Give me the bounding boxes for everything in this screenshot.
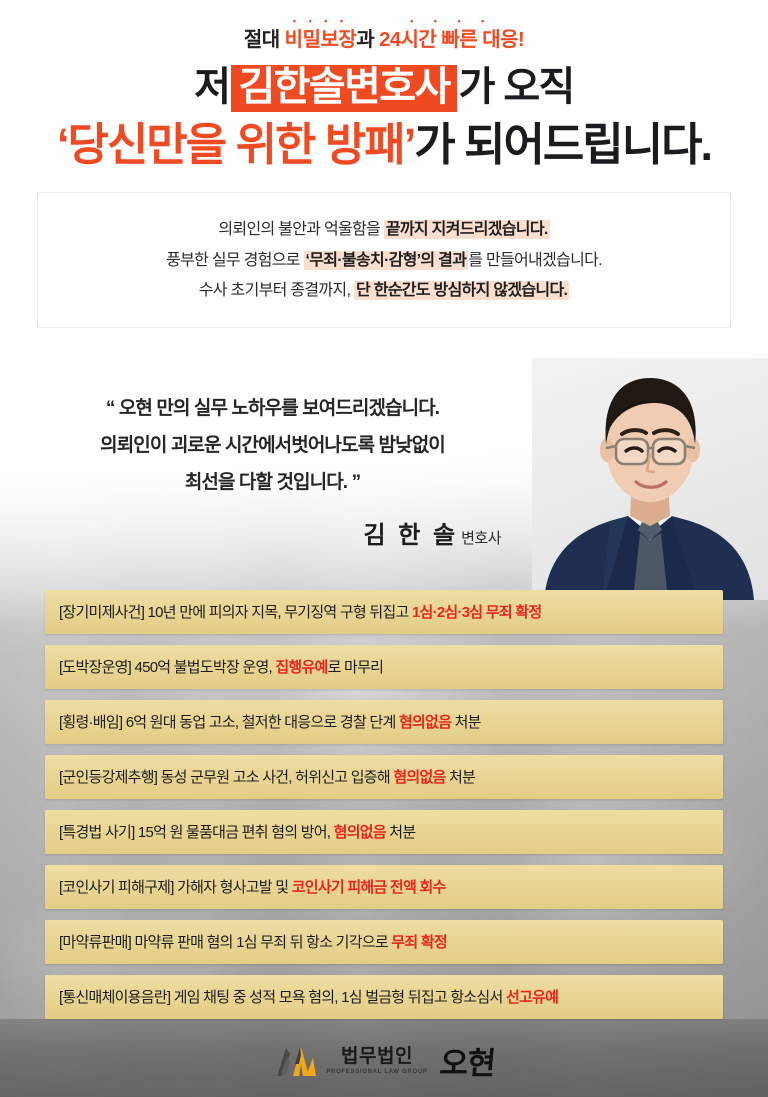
case-result-text-8: [통신매체이용음란] 게임 채팅 중 성적 모욕 혐의, 1심 벌금형 뒤집고 … bbox=[59, 990, 558, 1005]
quote-block: “ 오현 만의 실무 노하우를 보여드리겠습니다. 의뢰인이 괴로운 시간에서벗… bbox=[0, 390, 545, 550]
portrait-illustration bbox=[532, 358, 768, 600]
quote-text-3: 최선을 다할 것입니다. bbox=[185, 472, 347, 493]
case-body-7: 마약류 판매 혐의 1심 무죄 뒤 항소 기각으로 bbox=[131, 934, 391, 951]
promise-panel: 의뢰인의 불안과 억울함을 끝까지 지켜드리겠습니다. 풍부한 실무 경험으로 … bbox=[37, 192, 731, 327]
case-tag-4: [군인등강제추행] bbox=[59, 769, 157, 786]
case-result-row-4[interactable]: [군인등강제추행] 동성 군무원 고소 사건, 허위신고 입증해 혐의없음 처분 bbox=[45, 755, 723, 799]
case-tag-1: [장기미제사건] bbox=[59, 604, 144, 621]
kicker-part-plain-2: 과 bbox=[356, 29, 379, 51]
headline-block: 절대 비밀보장과 24시간 빠른 대응! 저김한솔변호사가 오직 ‘당신만을 위… bbox=[0, 0, 768, 172]
case-result-row-6[interactable]: [코인사기 피해구제] 가해자 형사고발 및 코인사기 피해금 전액 회수 bbox=[45, 865, 723, 909]
kicker-part-plain-1: 절대 bbox=[244, 29, 285, 51]
case-result-row-2[interactable]: [도박장운영] 450억 불법도박장 운영, 집행유예로 마무리 bbox=[45, 645, 723, 689]
title-line-1: 저김한솔변호사가 오직 bbox=[0, 63, 768, 112]
firm-label-en: PROFESSIONAL LAW GROUP bbox=[326, 1069, 427, 1075]
case-tail-3: 처분 bbox=[451, 714, 481, 731]
firm-brand-name: 오현 bbox=[438, 1038, 497, 1083]
case-body-6: 가해자 형사고발 및 bbox=[174, 879, 292, 896]
promise-line-1: 의뢰인의 불안과 억울함을 끝까지 지켜드리겠습니다. bbox=[56, 215, 712, 245]
case-tag-2: [도박장운영] bbox=[59, 659, 131, 676]
case-result-text-5: [특경법 사기] 15억 원 물품대금 편취 혐의 방어, 혐의없음 처분 bbox=[59, 825, 415, 840]
case-result-text-3: [횡령·배임] 6억 원대 동업 고소, 철저한 대응으로 경찰 단계 혐의없음… bbox=[59, 715, 481, 730]
case-result-row-3[interactable]: [횡령·배임] 6억 원대 동업 고소, 철저한 대응으로 경찰 단계 혐의없음… bbox=[45, 700, 723, 744]
case-tail-4: 처분 bbox=[446, 769, 476, 786]
case-results-list: [장기미제사건] 10년 만에 피의자 지목, 무기징역 구형 뒤집고 1심·2… bbox=[45, 590, 723, 1030]
case-body-4: 동성 군무원 고소 사건, 허위신고 입증해 bbox=[157, 769, 393, 786]
case-body-8: 게임 채팅 중 성적 모욕 혐의, 1심 벌금형 뒤집고 항소심서 bbox=[170, 989, 506, 1006]
title-pre: 저 bbox=[194, 65, 229, 109]
case-body-3: 6억 원대 동업 고소, 철저한 대응으로 경찰 단계 bbox=[122, 714, 399, 731]
quote-open-mark: “ bbox=[106, 398, 115, 419]
title-post: 가 오직 bbox=[459, 65, 574, 109]
quote-text-2: 의뢰인이 괴로운 시간에서벗어나도록 밤낮없이 bbox=[100, 435, 445, 456]
case-tail-5: 처분 bbox=[386, 824, 416, 841]
quote-line-2: 의뢰인이 괴로운 시간에서벗어나도록 밤낮없이 bbox=[0, 427, 545, 464]
case-tag-7: [마약류판매] bbox=[59, 934, 131, 951]
case-result-text-7: [마약류판매] 마약류 판매 혐의 1심 무죄 뒤 항소 기각으로 무죄 확정 bbox=[59, 935, 447, 950]
case-tag-3: [횡령·배임] bbox=[59, 714, 122, 731]
case-result-text-6: [코인사기 피해구제] 가해자 형사고발 및 코인사기 피해금 전액 회수 bbox=[59, 880, 446, 895]
firm-wordmark: 법무법인 PROFESSIONAL LAW GROUP bbox=[326, 1047, 427, 1075]
case-tag-6: [코인사기 피해구제] bbox=[59, 879, 174, 896]
case-result-row-1[interactable]: [장기미제사건] 10년 만에 피의자 지목, 무기징역 구형 뒤집고 1심·2… bbox=[45, 590, 723, 634]
case-body-5: 15억 원 물품대금 편취 혐의 방어, bbox=[135, 824, 334, 841]
title-accent-phrase: ‘당신만을 위한 방패’ bbox=[57, 119, 414, 170]
promise-line-2: 풍부한 실무 경험으로 ‘무죄·불송치·감형’의 결과를 만들어내겠습니다. bbox=[56, 246, 712, 276]
promise-2-after: 를 만들어내겠습니다. bbox=[468, 252, 602, 269]
case-result-row-7[interactable]: [마약류판매] 마약류 판매 혐의 1심 무죄 뒤 항소 기각으로 무죄 확정 bbox=[45, 920, 723, 964]
kicker-line: 절대 비밀보장과 24시간 빠른 대응! bbox=[0, 28, 768, 52]
lawyer-name-highlight: 김한솔변호사 bbox=[231, 65, 456, 112]
case-body-2: 450억 불법도박장 운영, bbox=[131, 659, 275, 676]
lawyer-portrait bbox=[532, 358, 768, 600]
quote-line-3: 최선을 다할 것입니다. ” bbox=[0, 464, 545, 501]
case-outcome-7: 무죄 확정 bbox=[391, 934, 447, 951]
case-tail-2: 로 마무리 bbox=[328, 659, 384, 676]
kicker-part-secrecy: 비밀보장 bbox=[285, 29, 357, 51]
case-result-row-8[interactable]: [통신매체이용음란] 게임 채팅 중 성적 모욕 혐의, 1심 벌금형 뒤집고 … bbox=[45, 975, 723, 1019]
promise-line-3: 수사 초기부터 종결까지, 단 한순간도 방심하지 않겠습니다. bbox=[56, 276, 712, 306]
law-group-mark-icon bbox=[273, 1044, 317, 1078]
case-outcome-1: 1심·2심·3심 무죄 확정 bbox=[412, 604, 541, 621]
firm-label-ko: 법무법인 bbox=[341, 1047, 413, 1066]
case-outcome-3: 혐의없음 bbox=[399, 714, 451, 731]
quote-close-mark: ” bbox=[352, 472, 361, 493]
case-outcome-8: 선고유예 bbox=[506, 989, 558, 1006]
attribution-role: 변호사 bbox=[461, 530, 501, 547]
case-result-text-1: [장기미제사건] 10년 만에 피의자 지목, 무기징역 구형 뒤집고 1심·2… bbox=[59, 605, 541, 620]
quote-attribution: 김 한 솔변호사 bbox=[0, 515, 545, 550]
title-line-2: ‘당신만을 위한 방패’가 되어드립니다. bbox=[0, 118, 768, 172]
case-tag-5: [특경법 사기] bbox=[59, 824, 135, 841]
promise-1-before: 의뢰인의 불안과 억울함을 bbox=[218, 221, 383, 238]
promise-2-mark: ‘무죄·불송치·감형’의 결과 bbox=[304, 251, 469, 270]
promise-3-before: 수사 초기부터 종결까지, bbox=[199, 282, 354, 299]
footer-logo-block: 법무법인 PROFESSIONAL LAW GROUP 오현 bbox=[0, 1038, 768, 1083]
case-result-text-2: [도박장운영] 450억 불법도박장 운영, 집행유예로 마무리 bbox=[59, 660, 383, 675]
poster-root: 절대 비밀보장과 24시간 빠른 대응! 저김한솔변호사가 오직 ‘당신만을 위… bbox=[0, 0, 768, 1097]
case-result-text-4: [군인등강제추행] 동성 군무원 고소 사건, 허위신고 입증해 혐의없음 처분 bbox=[59, 770, 475, 785]
attribution-name: 김 한 솔 bbox=[364, 522, 459, 549]
title-rest: 가 되어드립니다. bbox=[414, 119, 711, 170]
kicker-part-response: 24시간 빠른 대응! bbox=[379, 29, 524, 51]
promise-1-mark: 끝까지 지켜드리겠습니다. bbox=[384, 220, 550, 239]
promise-3-mark: 단 한순간도 방심하지 않겠습니다. bbox=[354, 281, 569, 300]
case-result-row-5[interactable]: [특경법 사기] 15억 원 물품대금 편취 혐의 방어, 혐의없음 처분 bbox=[45, 810, 723, 854]
promise-2-before: 풍부한 실무 경험으로 bbox=[166, 252, 303, 269]
quote-line-1: “ 오현 만의 실무 노하우를 보여드리겠습니다. bbox=[0, 390, 545, 427]
case-body-1: 10년 만에 피의자 지목, 무기징역 구형 뒤집고 bbox=[144, 604, 412, 621]
case-outcome-6: 코인사기 피해금 전액 회수 bbox=[292, 879, 446, 896]
case-outcome-2: 집행유예 bbox=[275, 659, 327, 676]
case-outcome-5: 혐의없음 bbox=[334, 824, 386, 841]
case-outcome-4: 혐의없음 bbox=[393, 769, 445, 786]
quote-text-1: 오현 만의 실무 노하우를 보여드리겠습니다. bbox=[119, 398, 439, 419]
case-tag-8: [통신매체이용음란] bbox=[59, 989, 170, 1006]
